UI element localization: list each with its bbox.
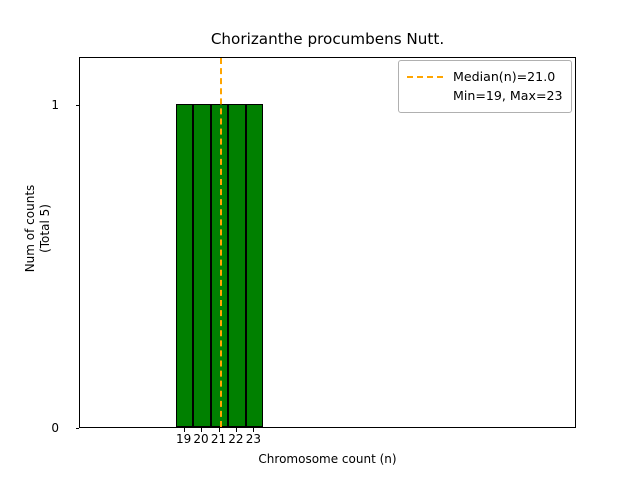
bar-22 (228, 104, 245, 427)
y-tick-label-0: 0 (51, 421, 59, 435)
y-axis-label-line-2: (Total 5) (38, 204, 53, 253)
bar-20 (193, 104, 210, 427)
y-tick-mark-1 (76, 105, 80, 106)
x-tick-mark-20 (201, 428, 202, 432)
median-line-marker (220, 58, 222, 427)
y-axis-label-line-1: Num of counts (23, 185, 38, 273)
x-tick-mark-22 (236, 428, 237, 432)
legend-label-0: Median(n)=21.0 (453, 69, 555, 84)
x-tick-mark-21 (219, 428, 220, 432)
y-axis-label: Num of counts (Total 5) (21, 43, 55, 414)
legend-dashed-line-icon (407, 76, 443, 78)
chart-figure: Chorizanthe procumbens Nutt. 19202122230… (0, 0, 640, 480)
legend-label-1: Min=19, Max=23 (453, 88, 563, 103)
x-tick-mark-19 (184, 428, 185, 432)
y-tick-mark-0 (76, 428, 80, 429)
bars-layer (80, 58, 575, 427)
legend-entry-1: Min=19, Max=23 (407, 86, 563, 105)
chart-title: Chorizanthe procumbens Nutt. (79, 30, 576, 48)
bar-23 (246, 104, 263, 427)
x-tick-label-23: 23 (233, 432, 273, 446)
chart-legend: Median(n)=21.0Min=19, Max=23 (398, 60, 572, 113)
bar-19 (176, 104, 193, 427)
legend-entry-0: Median(n)=21.0 (407, 67, 563, 86)
x-axis-label: Chromosome count (n) (79, 452, 576, 466)
x-tick-mark-23 (253, 428, 254, 432)
